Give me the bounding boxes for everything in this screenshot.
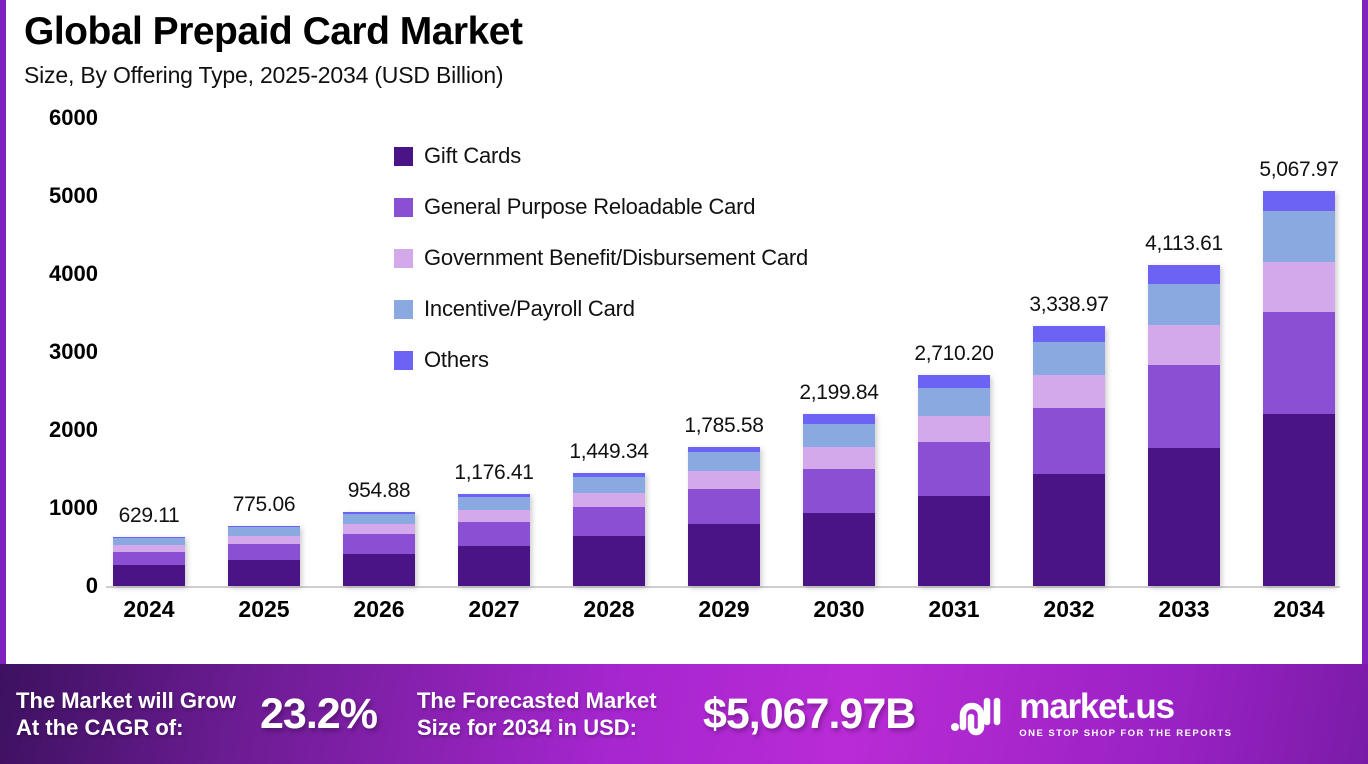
bar-segment[interactable]	[803, 414, 875, 424]
bar-total-label: 954.88	[348, 479, 410, 503]
legend-label: Gift Cards	[424, 143, 521, 169]
legend-swatch-icon	[394, 300, 413, 319]
bar-segment[interactable]	[803, 424, 875, 447]
bar-segment[interactable]	[1148, 325, 1220, 366]
bar-segment[interactable]	[113, 552, 185, 565]
bar-segment[interactable]	[228, 527, 300, 536]
bar-total-label: 3,338.97	[1029, 293, 1108, 317]
summary-banner: The Market will Grow At the CAGR of: 23.…	[0, 664, 1368, 764]
x-axis: 2024202520262027202820292030203120322033…	[110, 596, 1338, 623]
bar-segment[interactable]	[458, 522, 530, 546]
bar-segment[interactable]	[1263, 414, 1335, 586]
bar-total-label: 1,449.34	[569, 440, 648, 464]
bar-segment[interactable]	[343, 554, 415, 586]
stacked-bar[interactable]	[573, 473, 645, 586]
legend-label: Others	[424, 347, 489, 373]
bar-column[interactable]: 3,338.97	[1030, 118, 1108, 586]
legend-label: General Purpose Reloadable Card	[424, 194, 755, 220]
legend-swatch-icon	[394, 198, 413, 217]
market-us-logo-mark-icon	[949, 691, 1007, 737]
page-title: Global Prepaid Card Market	[24, 12, 1362, 53]
bar-segment[interactable]	[688, 489, 760, 524]
bar-segment[interactable]	[113, 538, 185, 545]
y-axis-tick: 6000	[49, 105, 98, 131]
bar-segment[interactable]	[343, 534, 415, 554]
stacked-bar[interactable]	[688, 447, 760, 586]
legend-swatch-icon	[394, 249, 413, 268]
bar-column[interactable]: 4,113.61	[1145, 118, 1223, 586]
y-axis-tick: 5000	[49, 183, 98, 209]
bar-total-label: 1,176.41	[454, 461, 533, 485]
y-axis-tick: 3000	[49, 339, 98, 365]
bar-segment[interactable]	[573, 536, 645, 586]
bar-segment[interactable]	[1263, 191, 1335, 212]
stacked-bar[interactable]	[1148, 265, 1220, 586]
bar-segment[interactable]	[1033, 408, 1105, 475]
forecast-value: $5,067.97B	[703, 690, 915, 739]
page-subtitle: Size, By Offering Type, 2025-2034 (USD B…	[24, 62, 1362, 89]
bar-segment[interactable]	[918, 388, 990, 416]
bar-segment[interactable]	[458, 497, 530, 510]
legend-item[interactable]: Others	[394, 347, 808, 373]
x-axis-tick: 2033	[1145, 596, 1223, 623]
x-axis-tick: 2027	[455, 596, 533, 623]
bar-segment[interactable]	[458, 546, 530, 586]
legend-label: Incentive/Payroll Card	[424, 296, 635, 322]
bar-column[interactable]: 775.06	[225, 118, 303, 586]
bar-segment[interactable]	[1148, 265, 1220, 283]
bar-segment[interactable]	[1148, 365, 1220, 447]
bar-segment[interactable]	[803, 447, 875, 468]
x-axis-tick: 2034	[1260, 596, 1338, 623]
bar-segment[interactable]	[918, 442, 990, 496]
y-axis: 6000500040003000200010000	[6, 118, 106, 588]
bar-segment[interactable]	[113, 565, 185, 586]
x-axis-tick: 2031	[915, 596, 993, 623]
bar-segment[interactable]	[1033, 474, 1105, 586]
bar-segment[interactable]	[918, 375, 990, 389]
bar-segment[interactable]	[1033, 375, 1105, 408]
chart-legend: Gift CardsGeneral Purpose Reloadable Car…	[394, 143, 808, 373]
bar-total-label: 2,710.20	[914, 342, 993, 366]
bar-segment[interactable]	[1263, 312, 1335, 413]
legend-item[interactable]: Government Benefit/Disbursement Card	[394, 245, 808, 271]
y-axis-tick: 1000	[49, 495, 98, 521]
bar-segment[interactable]	[918, 416, 990, 443]
bar-column[interactable]: 2,710.20	[915, 118, 993, 586]
bar-total-label: 2,199.84	[799, 381, 878, 405]
bar-segment[interactable]	[228, 544, 300, 560]
x-axis-tick: 2029	[685, 596, 763, 623]
bar-segment[interactable]	[228, 560, 300, 586]
bar-segment[interactable]	[573, 477, 645, 493]
stacked-bar[interactable]	[918, 375, 990, 586]
chart-plot-area: 6000500040003000200010000 629.11775.0695…	[6, 118, 1362, 646]
forecast-caption: The Forecasted Market Size for 2034 in U…	[417, 687, 687, 742]
logo-name: market.us	[1019, 689, 1232, 724]
bar-segment[interactable]	[688, 452, 760, 471]
x-axis-tick: 2030	[800, 596, 878, 623]
y-axis-tick: 4000	[49, 261, 98, 287]
cagr-caption: The Market will Grow At the CAGR of:	[16, 687, 256, 742]
x-axis-tick: 2026	[340, 596, 418, 623]
y-axis-tick: 0	[86, 573, 98, 599]
bar-segment[interactable]	[1263, 262, 1335, 312]
legend-swatch-icon	[394, 147, 413, 166]
stacked-bar[interactable]	[458, 494, 530, 586]
market-us-logo[interactable]: market.us ONE STOP SHOP FOR THE REPORTS	[949, 689, 1232, 739]
bar-total-label: 775.06	[233, 493, 295, 517]
bar-segment[interactable]	[343, 524, 415, 534]
stacked-bar[interactable]	[1263, 191, 1335, 586]
x-axis-tick: 2024	[110, 596, 188, 623]
bar-segment[interactable]	[1148, 448, 1220, 586]
bar-segment[interactable]	[573, 507, 645, 536]
bar-segment[interactable]	[458, 510, 530, 522]
legend-item[interactable]: Incentive/Payroll Card	[394, 296, 808, 322]
y-axis-tick: 2000	[49, 417, 98, 443]
bar-segment[interactable]	[688, 471, 760, 488]
x-axis-tick: 2028	[570, 596, 648, 623]
bar-column[interactable]: 5,067.97	[1260, 118, 1338, 586]
legend-item[interactable]: General Purpose Reloadable Card	[394, 194, 808, 220]
x-axis-baseline	[106, 586, 1340, 588]
bar-segment[interactable]	[803, 513, 875, 586]
bar-column[interactable]: 2,199.84	[800, 118, 878, 586]
bar-segment[interactable]	[1033, 342, 1105, 375]
infographic-root: Global Prepaid Card Market Size, By Offe…	[0, 0, 1368, 764]
bar-segment[interactable]	[1148, 284, 1220, 325]
bar-segment[interactable]	[803, 469, 875, 513]
logo-text-block: market.us ONE STOP SHOP FOR THE REPORTS	[1019, 689, 1232, 739]
bar-segment[interactable]	[918, 496, 990, 586]
cagr-value: 23.2%	[260, 690, 377, 739]
bar-column[interactable]: 629.11	[110, 118, 188, 586]
stacked-bar[interactable]	[113, 537, 185, 586]
bar-total-label: 4,113.61	[1145, 232, 1223, 256]
bar-segment[interactable]	[1033, 326, 1105, 342]
bar-segment[interactable]	[573, 493, 645, 507]
bar-segment[interactable]	[343, 514, 415, 525]
legend-swatch-icon	[394, 351, 413, 370]
bar-segment[interactable]	[228, 536, 300, 544]
bar-total-label: 1,785.58	[684, 414, 763, 438]
stacked-bar[interactable]	[228, 526, 300, 586]
stacked-bar[interactable]	[803, 414, 875, 586]
stacked-bar[interactable]	[343, 512, 415, 586]
legend-item[interactable]: Gift Cards	[394, 143, 808, 169]
header: Global Prepaid Card Market Size, By Offe…	[6, 0, 1362, 89]
bar-segment[interactable]	[1263, 211, 1335, 262]
logo-tagline: ONE STOP SHOP FOR THE REPORTS	[1019, 728, 1232, 739]
stacked-bar[interactable]	[1033, 326, 1105, 586]
x-axis-tick: 2025	[225, 596, 303, 623]
bar-total-label: 629.11	[119, 504, 180, 528]
legend-label: Government Benefit/Disbursement Card	[424, 245, 808, 271]
bar-total-label: 5,067.97	[1259, 158, 1338, 182]
bar-segment[interactable]	[688, 524, 760, 586]
x-axis-tick: 2032	[1030, 596, 1108, 623]
